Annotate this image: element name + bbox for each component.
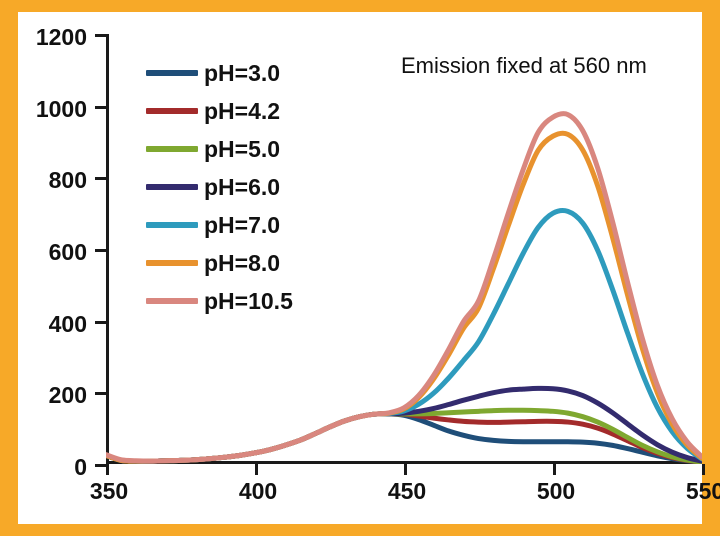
legend-item[interactable]: pH=4.2 [146, 92, 326, 130]
legend-label: pH=7.0 [204, 214, 280, 237]
y-tick-600: 600 [95, 249, 106, 252]
legend-swatch-icon [146, 146, 198, 152]
x-tick-label: 500 [537, 478, 575, 505]
legend-item[interactable]: pH=6.0 [146, 168, 326, 206]
y-tick-label: 200 [49, 382, 87, 409]
y-tick-label: 600 [49, 239, 87, 266]
legend-item[interactable]: pH=8.0 [146, 244, 326, 282]
x-tick-400: 400 [255, 464, 258, 475]
series-line-ph6.0 [106, 388, 702, 461]
legend-swatch-icon [146, 298, 198, 304]
legend-swatch-icon [146, 70, 198, 76]
x-tick-label: 350 [90, 478, 128, 505]
emission-annotation: Emission fixed at 560 nm [401, 53, 647, 79]
y-tick-0: 0 [95, 464, 106, 467]
y-tick-1200: 1200 [95, 34, 106, 37]
legend: pH=3.0pH=4.2pH=5.0pH=6.0pH=7.0pH=8.0pH=1… [146, 54, 326, 320]
series-line-ph4.2 [106, 414, 702, 462]
y-tick-400: 400 [95, 321, 106, 324]
series-line-ph3.0 [106, 414, 702, 462]
x-tick-350: 350 [106, 464, 109, 475]
y-tick-label: 0 [74, 454, 87, 481]
y-tick-label: 800 [49, 167, 87, 194]
x-tick-label: 450 [388, 478, 426, 505]
x-tick-label: 550 [686, 478, 720, 505]
x-tick-450: 450 [404, 464, 407, 475]
legend-item[interactable]: pH=5.0 [146, 130, 326, 168]
legend-label: pH=4.2 [204, 100, 280, 123]
legend-item[interactable]: pH=3.0 [146, 54, 326, 92]
x-tick-500: 500 [553, 464, 556, 475]
legend-label: pH=8.0 [204, 252, 280, 275]
legend-swatch-icon [146, 260, 198, 266]
x-tick-label: 400 [239, 478, 277, 505]
legend-label: pH=5.0 [204, 138, 280, 161]
x-tick-550: 550 [702, 464, 705, 475]
legend-item[interactable]: pH=10.5 [146, 282, 326, 320]
legend-swatch-icon [146, 108, 198, 114]
y-tick-1000: 1000 [95, 106, 106, 109]
y-tick-label: 1000 [36, 96, 87, 123]
legend-item[interactable]: pH=7.0 [146, 206, 326, 244]
legend-swatch-icon [146, 222, 198, 228]
y-tick-200: 200 [95, 392, 106, 395]
legend-label: pH=6.0 [204, 176, 280, 199]
y-tick-800: 800 [95, 177, 106, 180]
y-tick-label: 400 [49, 311, 87, 338]
y-tick-label: 1200 [36, 24, 87, 51]
legend-label: pH=3.0 [204, 62, 280, 85]
figure-container: 020040060080010001200 350400450500550 pH… [0, 0, 720, 536]
legend-label: pH=10.5 [204, 290, 293, 313]
legend-swatch-icon [146, 184, 198, 190]
chart-canvas: 020040060080010001200 350400450500550 pH… [18, 12, 702, 524]
